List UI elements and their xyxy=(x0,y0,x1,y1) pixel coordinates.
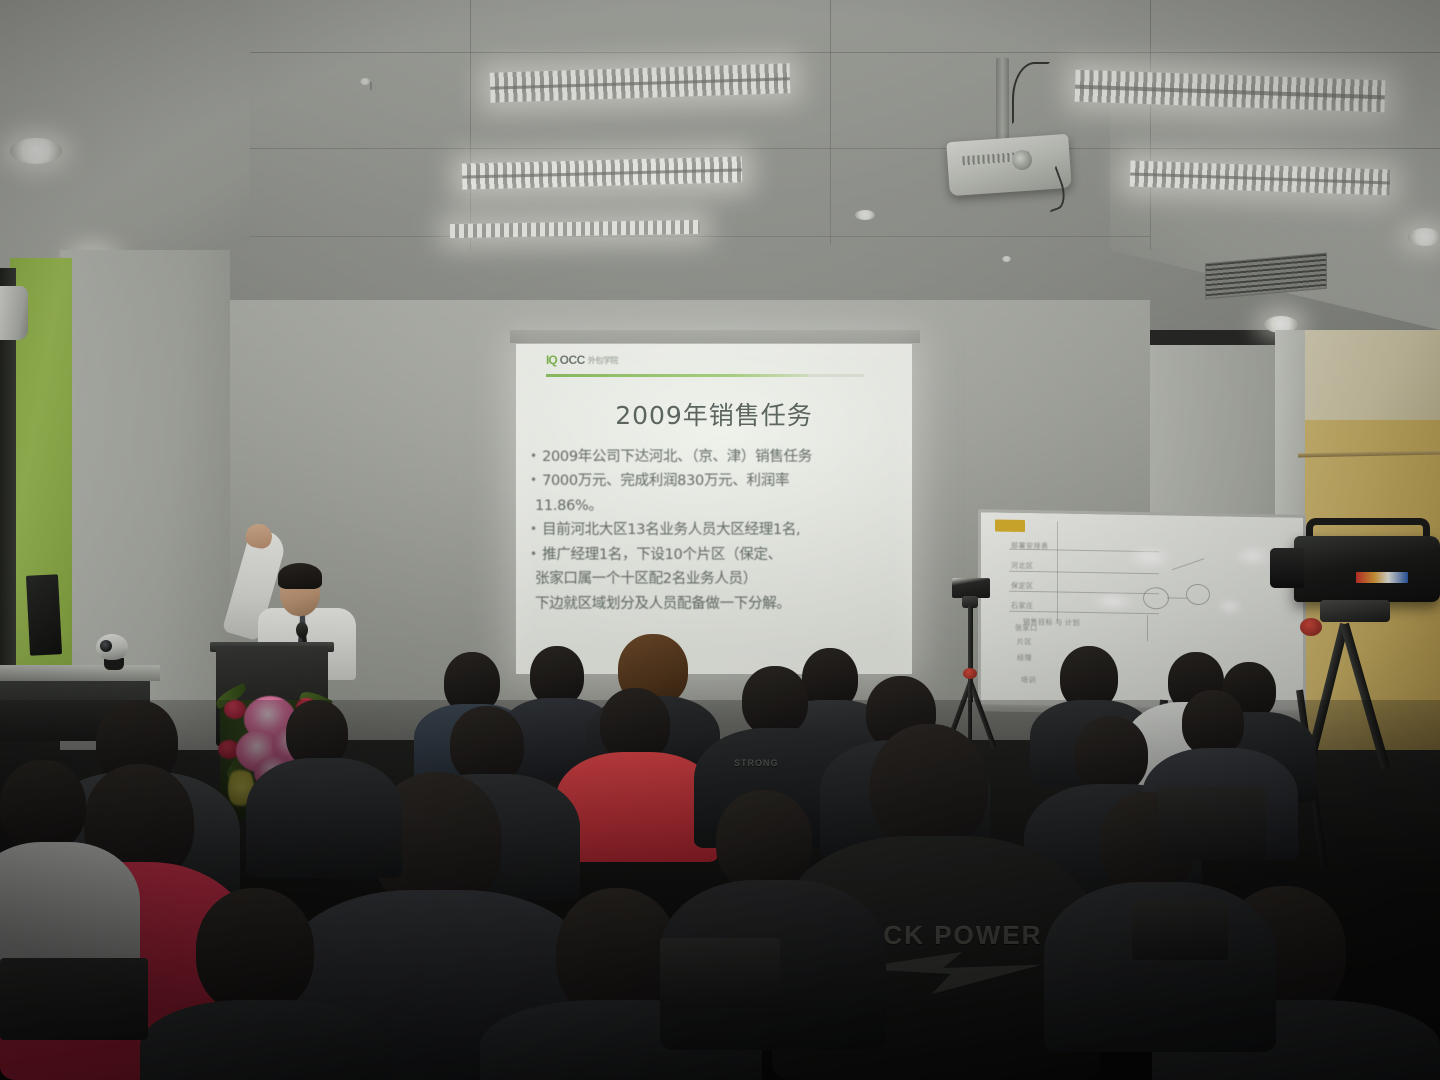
conference-room-scene: IQ OCC 外包学院 2009年销售任务 • 2009年公司下达河北、（京、津… xyxy=(0,0,1440,1080)
audience-head xyxy=(196,888,314,1014)
bullet-marker: • xyxy=(530,471,537,490)
slide-accent-rule-secondary xyxy=(808,374,864,377)
slide-bullet-continuation: 11.86%。 xyxy=(530,496,902,517)
tripod-leg xyxy=(968,682,972,740)
audience-head xyxy=(450,706,524,784)
projected-slide: IQ OCC 外包学院 2009年销售任务 • 2009年公司下达河北、（京、津… xyxy=(516,344,912,674)
ceiling-sprinkler xyxy=(1002,256,1011,262)
presenter-hair xyxy=(278,563,322,589)
slide-logo: IQ OCC 外包学院 xyxy=(546,354,618,366)
bullet-text: 推广经理1名，下设10个片区（保定、 xyxy=(542,545,782,566)
camera-brand-sticker xyxy=(1356,572,1408,583)
whiteboard-glare xyxy=(1091,592,1135,611)
whiteboard-diagram-connector xyxy=(1147,615,1148,641)
audience-head xyxy=(1182,690,1244,756)
whiteboard-line xyxy=(1009,591,1159,595)
ceiling-smoke-detector xyxy=(855,210,875,220)
ceiling-downlight xyxy=(10,138,62,164)
whiteboard-line xyxy=(1009,571,1159,575)
whiteboard-text: 培训 xyxy=(1021,675,1036,685)
microphone-head xyxy=(296,622,308,638)
slide-bullet: • 7000万元、完成利润830万元、利润率 xyxy=(530,471,902,492)
slide-bullet: • 推广经理1名，下设10个片区（保定、 xyxy=(530,545,902,566)
chair-back xyxy=(0,958,148,1040)
whiteboard-diagram-connector xyxy=(1167,597,1187,598)
audience-head xyxy=(742,666,808,736)
audience-head xyxy=(0,760,86,852)
av-equipment-cart-top xyxy=(0,665,160,681)
bullet-text: 目前河北大区13名业务人员大区经理1名, xyxy=(542,520,800,541)
flower-rose xyxy=(224,700,246,719)
whiteboard-glare xyxy=(1127,545,1173,570)
audience-head xyxy=(600,688,670,762)
whiteboard-diagram-node xyxy=(1143,587,1169,609)
whiteboard-sticky-note xyxy=(995,519,1025,532)
right-wall-upper xyxy=(1290,330,1440,430)
jacket-brand-text: STRONG xyxy=(734,758,779,768)
ceiling-seam xyxy=(250,52,1440,53)
slide-bullet: • 目前河北大区13名业务人员大区经理1名, xyxy=(530,520,902,541)
whiteboard-text: 片区 xyxy=(1017,637,1032,647)
audience-head xyxy=(870,724,988,850)
whiteboard-text: 经理 xyxy=(1017,653,1032,663)
ceiling-seam xyxy=(250,236,1150,237)
camera-lens-hood xyxy=(1270,548,1304,588)
bullet-text: 2009年公司下达河北、（京、津）销售任务 xyxy=(542,447,812,468)
bullet-text: 7000万元、完成利润830万元、利润率 xyxy=(542,471,789,492)
slide-bullet-continuation: 张家口属一个十区配2名业务人员） xyxy=(530,569,902,590)
bullet-text: 张家口属一个十区配2名业务人员） xyxy=(535,569,757,590)
whiteboard-text: 保定区 xyxy=(1011,581,1034,591)
bullet-text: 11.86%。 xyxy=(535,496,603,517)
whiteboard-diagram-connector xyxy=(1172,558,1204,570)
projector-lens xyxy=(1012,150,1032,170)
video-camera-small xyxy=(952,578,990,598)
ceiling-conduit xyxy=(370,82,372,90)
whiteboard-diagram-node xyxy=(1186,584,1210,605)
whiteboard-text: 部署安排表 xyxy=(1011,541,1049,552)
ceiling-downlight xyxy=(1408,228,1440,246)
bullet-text: 下边就区域划分及人员配备做一下分解。 xyxy=(535,594,791,615)
whiteboard-glare xyxy=(1217,598,1243,614)
whiteboard-line xyxy=(1057,522,1058,622)
whiteboard-text: 销售目标 与 计划 xyxy=(1023,617,1080,628)
slide-title: 2009年销售任务 xyxy=(516,396,912,432)
logo-chinese-text: 外包学院 xyxy=(588,355,618,366)
logo-mark-icon: IQ xyxy=(546,354,557,366)
logo-wordmark: OCC xyxy=(560,354,585,366)
audience-head xyxy=(530,646,584,706)
whiteboard-glare xyxy=(1233,545,1273,568)
audience-head xyxy=(716,790,812,892)
tripod-lock-knob xyxy=(1300,618,1322,636)
whiteboard-line xyxy=(1009,611,1159,615)
projector-mount-pole xyxy=(996,58,1009,140)
ceiling-seam xyxy=(830,0,831,245)
bullet-marker: • xyxy=(530,545,537,564)
tripod-lock-knob xyxy=(963,668,977,679)
monitor xyxy=(26,574,62,656)
bullet-marker: • xyxy=(530,520,537,539)
audience-shoulders xyxy=(246,758,402,878)
whiteboard-text: 河北区 xyxy=(1011,561,1034,571)
chair-back xyxy=(1158,786,1266,860)
ceiling-seam xyxy=(250,148,1440,149)
audience-head xyxy=(1074,716,1148,794)
chair-back xyxy=(1132,900,1228,960)
ceiling-seam xyxy=(470,0,471,250)
ceiling-sprinkler xyxy=(360,78,370,85)
audience-shoulders xyxy=(140,1000,390,1080)
slide-bullet-continuation: 下边就区域划分及人员配备做一下分解。 xyxy=(530,594,902,615)
video-camera-large xyxy=(1294,536,1440,602)
tripod-head xyxy=(1320,600,1390,622)
bullet-marker: • xyxy=(530,447,537,466)
slide-bullet: • 2009年公司下达河北、（京、津）销售任务 xyxy=(530,447,902,468)
slide-bullet-list: • 2009年公司下达河北、（京、津）销售任务 • 7000万元、完成利润830… xyxy=(530,447,902,618)
projection-screen-frame xyxy=(510,330,920,343)
slide-accent-rule xyxy=(546,374,808,377)
chair-back xyxy=(660,938,780,1008)
ceiling-seam xyxy=(1150,0,1151,250)
wall-speaker xyxy=(0,286,28,340)
webcam-lens-icon xyxy=(100,640,112,652)
whiteboard-text: 石家庄 xyxy=(1011,601,1034,611)
